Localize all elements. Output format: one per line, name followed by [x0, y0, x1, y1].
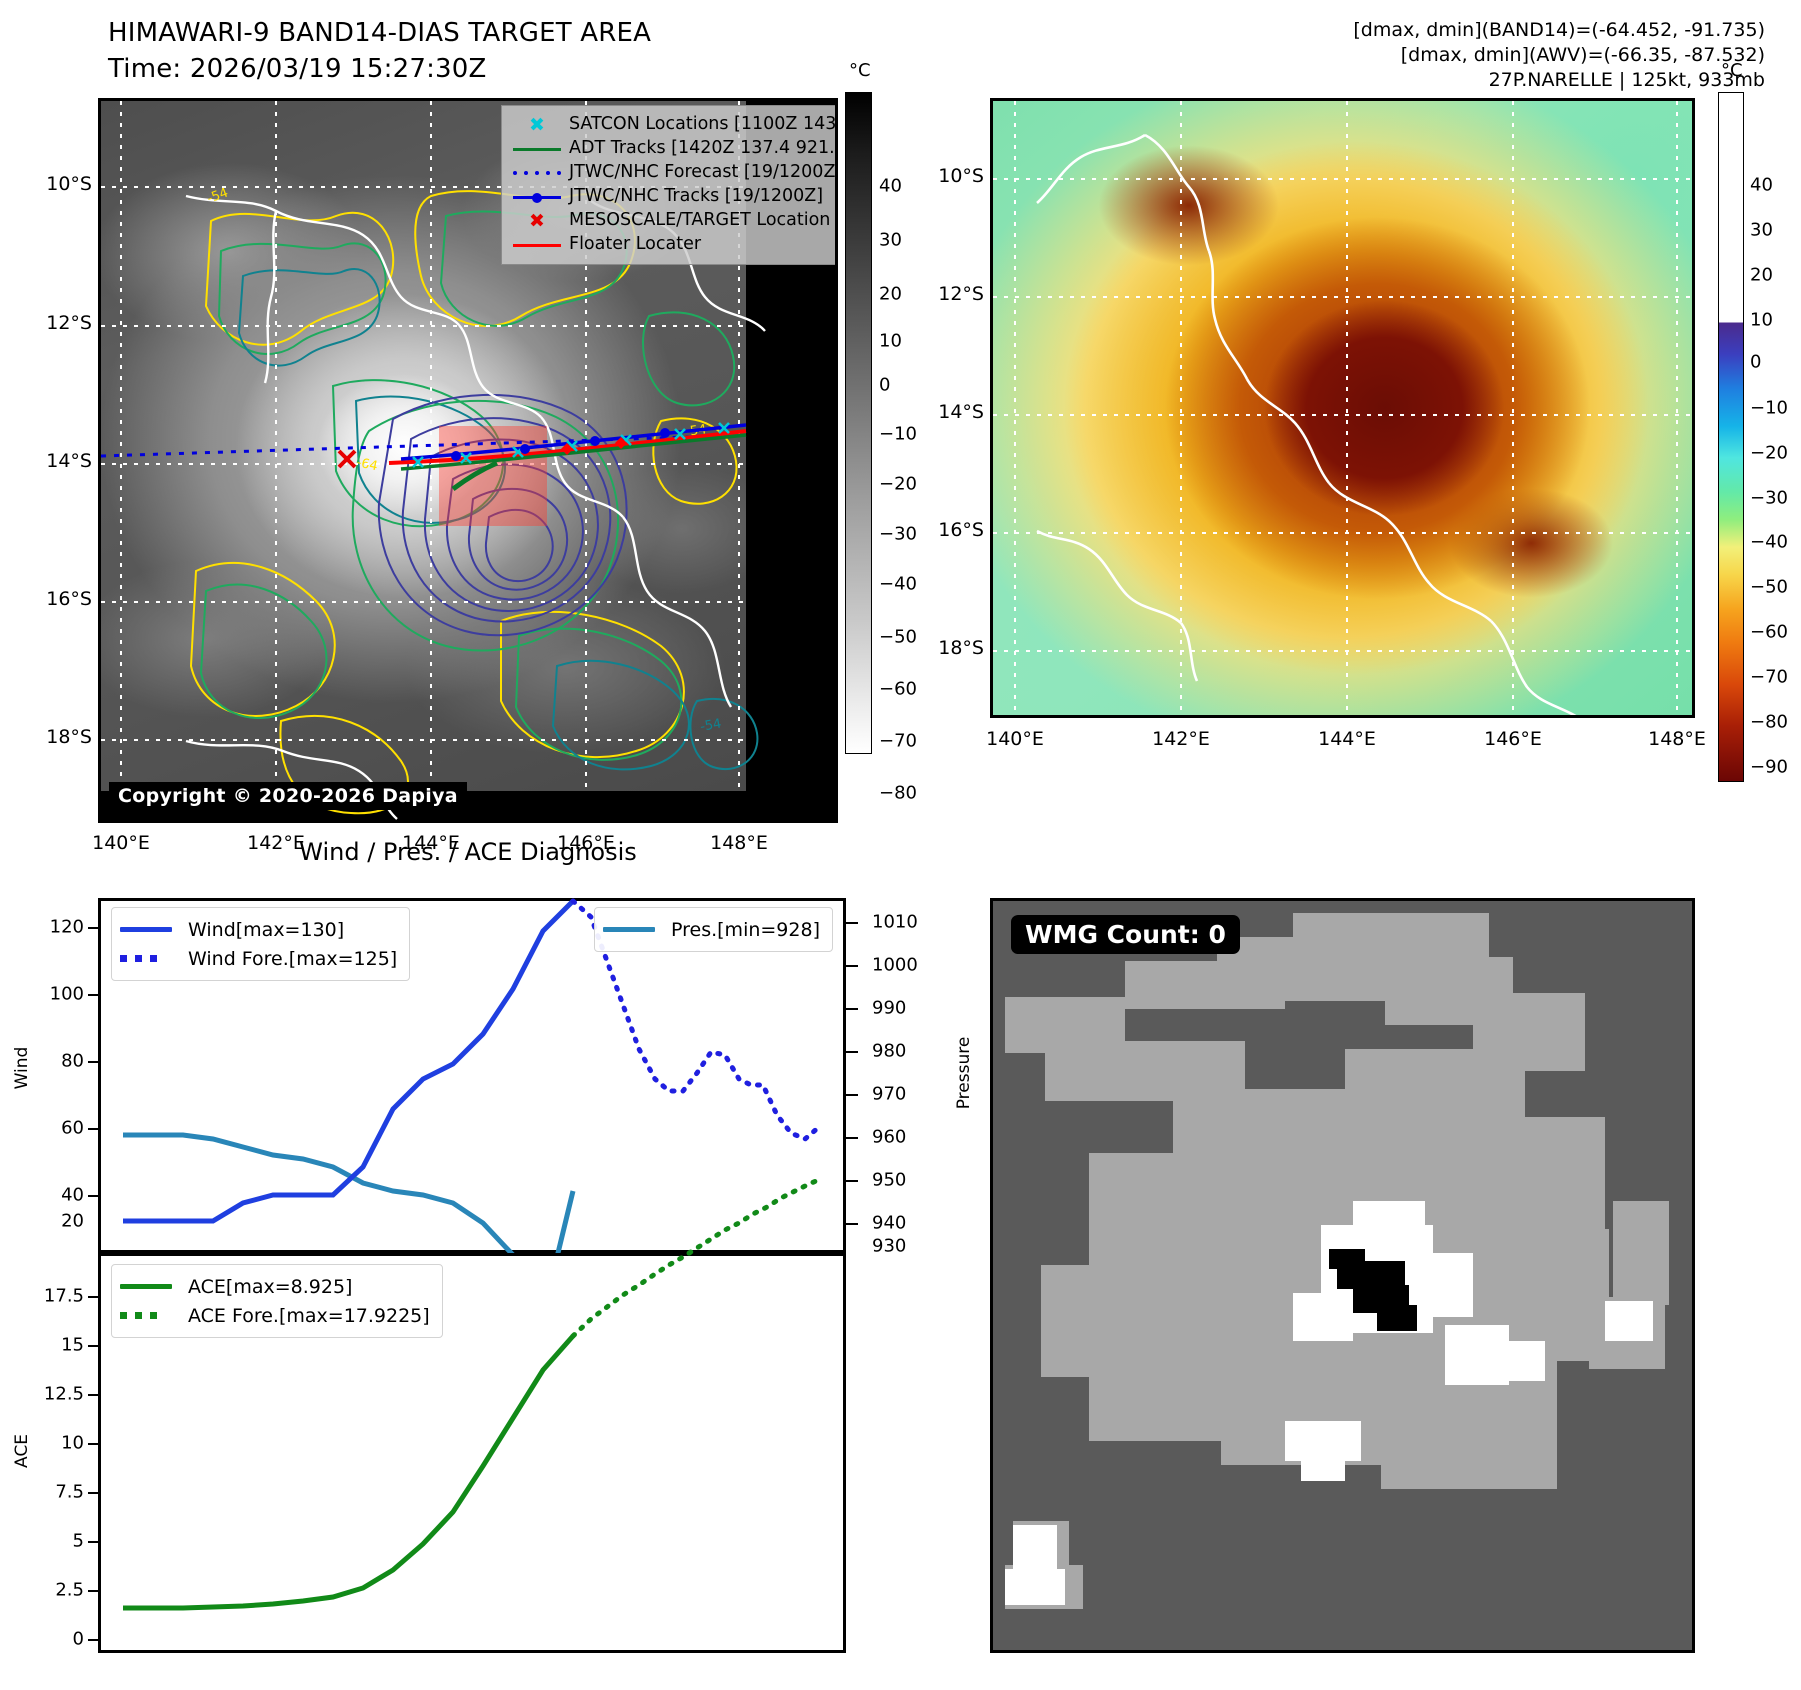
map-legend: ✖ SATCON Locations [1100Z 143 920] ADT T…	[501, 105, 838, 265]
pressure-axis-label: Pressure	[954, 1033, 974, 1113]
legend-item-floater-locater[interactable]: Floater Locater	[509, 233, 838, 257]
cross-marker-icon: ✖	[509, 212, 565, 231]
ace-y-axis: ACE 17.5 15 12.5 10 7.5 5 2.5 0	[0, 1253, 98, 1653]
wind-chart-legend: Wind[max=130] Wind Fore.[max=125]	[111, 907, 410, 981]
wind-pressure-chart[interactable]: Wind[max=130] Wind Fore.[max=125] Pres.[…	[98, 898, 846, 1253]
dmax-awv-label: [dmax, dmin](AWV)=(-66.35, -87.532)	[1353, 43, 1765, 68]
solid-line-icon	[120, 927, 180, 932]
dmax-band14-label: [dmax, dmin](BAND14)=(-64.452, -91.735)	[1353, 18, 1765, 43]
legend-item-satcon[interactable]: ✖ SATCON Locations [1100Z 143 920]	[509, 113, 838, 137]
copyright-badge: Copyright © 2020-2026 Dapiya	[109, 782, 467, 810]
dotted-line-icon	[509, 171, 565, 175]
page-title: HIMAWARI-9 BAND14-DIAS TARGET AREA	[108, 18, 651, 48]
right-map-lon-axis: 140°E 142°E 144°E 146°E 148°E	[990, 728, 1695, 754]
legend-item-mesoscale-target[interactable]: ✖ MESOSCALE/TARGET Location	[509, 209, 838, 233]
colorbar-unit-label: °C	[849, 60, 871, 81]
timestamp-label: Time: 2026/03/19 15:27:30Z	[108, 54, 651, 84]
solid-line-icon	[603, 927, 663, 932]
legend-item-jtwc-tracks[interactable]: JTWC/NHC Tracks [19/1200Z]	[509, 185, 838, 209]
storm-id-label: 27P.NARELLE | 125kt, 933mb	[1353, 68, 1765, 93]
legend-item-wind-forecast[interactable]: Wind Fore.[max=125]	[120, 944, 397, 973]
legend-item-pressure[interactable]: Pres.[min=928]	[603, 915, 820, 944]
solid-line-icon	[120, 1284, 180, 1289]
colorbar-gradient	[1718, 92, 1744, 782]
pressure-chart-legend: Pres.[min=928]	[594, 907, 833, 952]
satellite-ir-enhanced-image	[993, 101, 1692, 715]
line-with-marker-icon	[509, 192, 565, 202]
colorbar-unit-label: °C	[1721, 60, 1743, 81]
pressure-y-axis: Pressure 1010 1000 990 980 970 960 950 9…	[846, 898, 996, 1253]
series-ace	[123, 1336, 573, 1608]
charts-title: Wind / Pres. / ACE Diagnosis	[98, 838, 838, 866]
title-block: HIMAWARI-9 BAND14-DIAS TARGET AREA Time:…	[108, 18, 651, 84]
enhanced-ir-map[interactable]	[990, 98, 1695, 718]
band14-grayscale-map[interactable]: -54 -64 -54 -54	[98, 98, 838, 823]
solid-line-icon	[509, 244, 565, 247]
wind-axis-label: Wind	[12, 1038, 32, 1098]
colorbar-gradient	[845, 92, 872, 754]
right-map-lat-axis: 10°S 12°S 14°S 16°S 18°S	[900, 98, 984, 718]
dotted-line-icon	[120, 955, 180, 962]
cross-marker-icon: ✖	[509, 116, 565, 135]
legend-item-ace-forecast[interactable]: ACE Fore.[max=17.9225]	[120, 1301, 430, 1330]
enhanced-colorbar: °C 40 30 20 10 0 −10 −20 −30 −40 −50 −60…	[1718, 60, 1801, 820]
legend-item-wind[interactable]: Wind[max=130]	[120, 915, 397, 944]
wmg-cloud-cluster-map	[993, 901, 1692, 1650]
dotted-line-icon	[120, 1312, 180, 1319]
wmg-count-badge: WMG Count: 0	[1011, 915, 1240, 954]
storm-info-header: [dmax, dmin](BAND14)=(-64.452, -91.735) …	[1353, 18, 1765, 93]
ace-axis-label: ACE	[12, 1421, 32, 1481]
ace-chart-legend: ACE[max=8.925] ACE Fore.[max=17.9225]	[111, 1264, 443, 1338]
ace-chart[interactable]: ACE[max=8.925] ACE Fore.[max=17.9225]	[98, 1253, 846, 1653]
left-map-lat-axis: 10°S 12°S 14°S 16°S 18°S	[0, 98, 92, 823]
legend-item-ace[interactable]: ACE[max=8.925]	[120, 1272, 430, 1301]
legend-item-jtwc-forecast[interactable]: JTWC/NHC Forecast [19/1200Z]	[509, 161, 838, 185]
solid-line-icon	[509, 148, 565, 151]
wmg-panel[interactable]: WMG Count: 0	[990, 898, 1695, 1653]
legend-item-adt[interactable]: ADT Tracks [1420Z 137.4 921.0]	[509, 137, 838, 161]
wind-y-axis: Wind 120 100 80 60 40 20	[0, 898, 98, 1253]
